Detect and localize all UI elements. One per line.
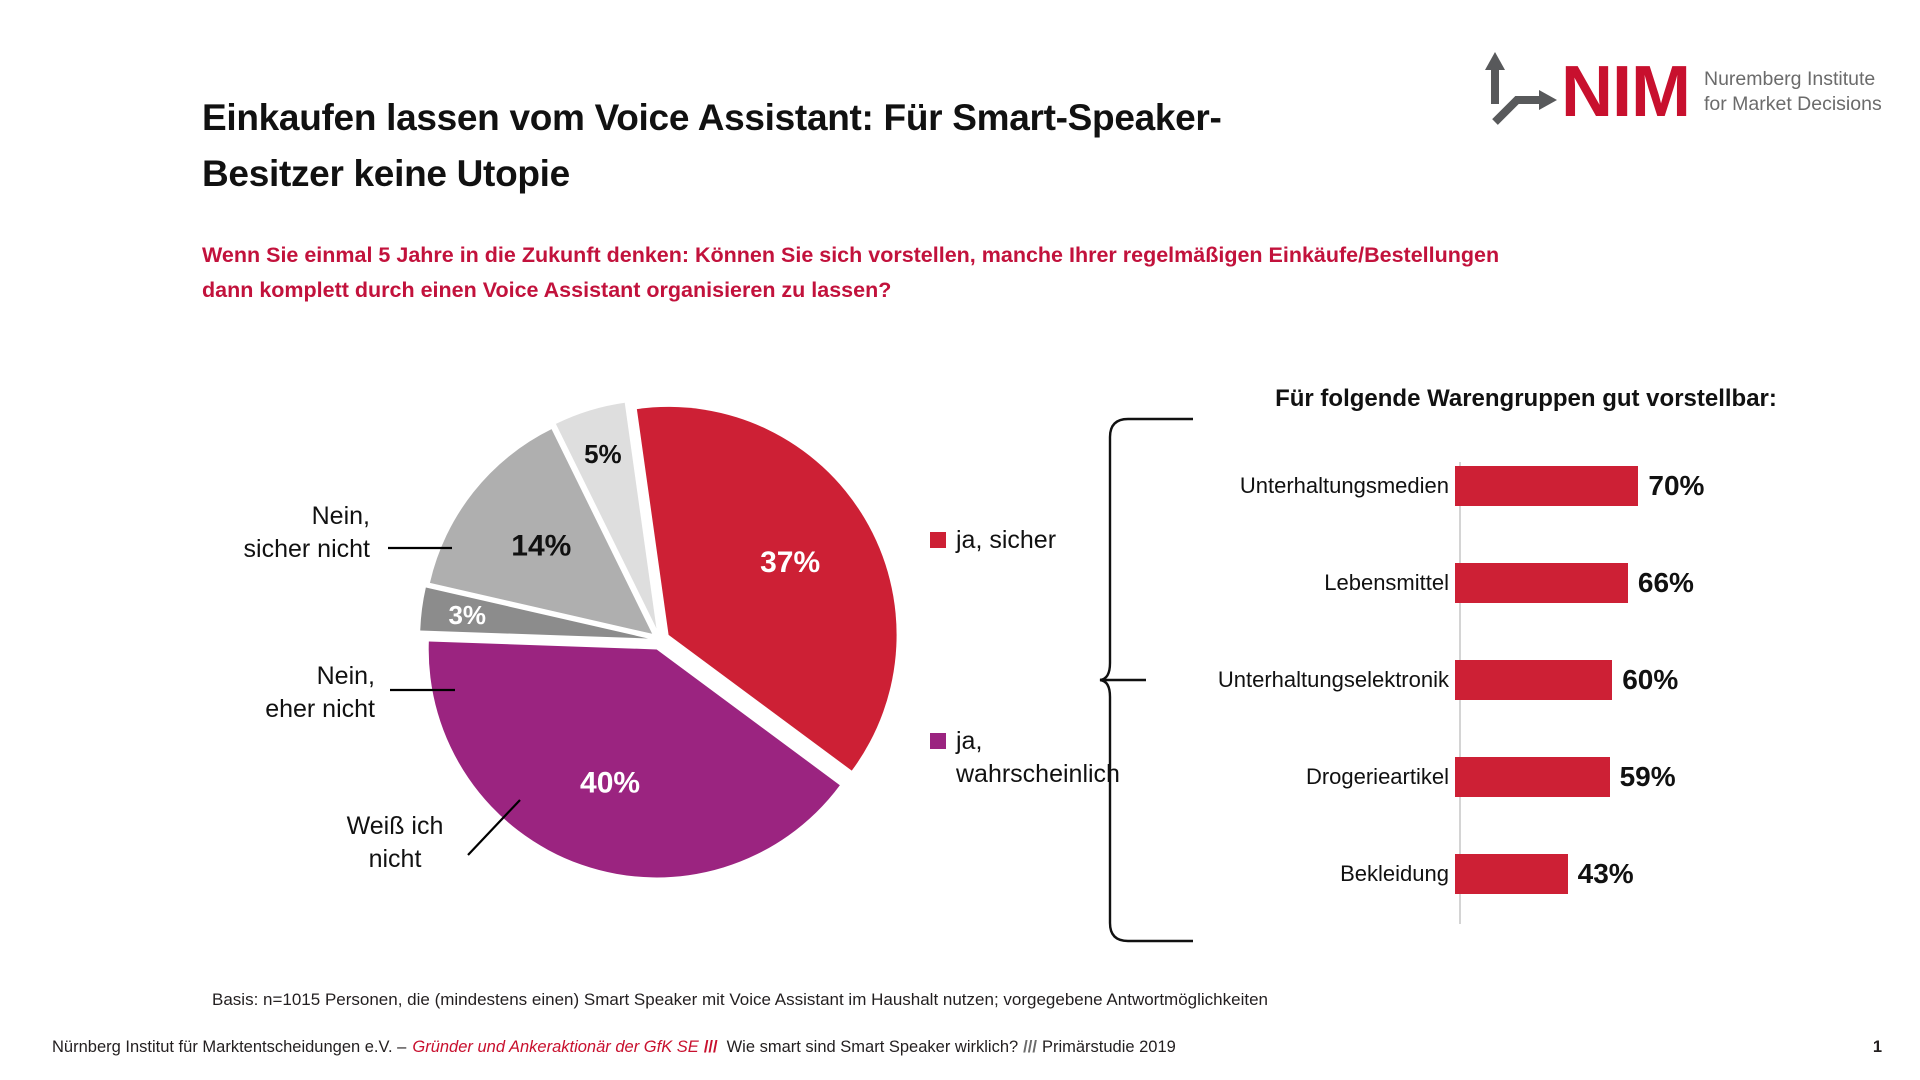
pie-label-line2: eher nicht [130,693,375,726]
bar-value-label: 60% [1622,664,1678,696]
bar-category-label: Bekleidung [1180,861,1455,887]
slide: NIM Nuremberg Institute for Market Decis… [0,0,1920,1080]
logo-tagline: Nuremberg Institute for Market Decisions [1704,67,1882,117]
legend-label-ja-sicher: ja, sicher [956,524,1056,557]
pie-label-line1: Nein, [130,660,375,693]
page-title: Einkaufen lassen vom Voice Assistant: Fü… [202,90,1382,202]
bar-category-label: Unterhaltungsmedien [1180,473,1455,499]
page-subtitle: Wenn Sie einmal 5 Jahre in die Zukunft d… [202,238,1692,308]
bar-value-label: 43% [1578,858,1634,890]
legend-item-ja-wahrscheinlich[interactable]: ja, wahrscheinlich [930,725,1120,791]
footer-separator-2: /// [1023,1038,1037,1057]
logo-tagline-line1: Nuremberg Institute [1704,67,1882,92]
pie-label-line1: Weiß ich [320,810,470,843]
bar-fill [1455,757,1610,797]
footer-study: Wie smart sind Smart Speaker wirklich? [727,1038,1019,1057]
legend-item-ja-sicher[interactable]: ja, sicher [930,524,1056,557]
pie-slice-value: 14% [511,530,571,563]
bars-section-title: Für folgende Warengruppen gut vorstellba… [1196,385,1856,413]
logo-wordmark: NIM [1561,56,1690,128]
bar-row: Unterhaltungselektronik60% [1180,656,1880,704]
bar-track: 43% [1455,850,1880,898]
branching-arrow-icon [1465,48,1557,135]
bar-fill [1455,563,1628,603]
footer-separator-1: /// [704,1038,718,1057]
bar-track: 60% [1455,656,1880,704]
footer-page-number: 1 [1873,1038,1882,1057]
nim-logo: NIM Nuremberg Institute for Market Decis… [1465,48,1882,135]
pie-slice-value: 3% [448,600,486,630]
legend-swatch-ja-sicher [930,532,946,548]
bar-fill [1455,660,1612,700]
pie-label-line1: Nein, [130,500,370,533]
bar-row: Drogerieartikel59% [1180,753,1880,801]
pie-slice-value: 40% [580,766,640,799]
page-title-line1: Einkaufen lassen vom Voice Assistant: Fü… [202,90,1382,146]
bar-row: Lebensmittel66% [1180,559,1880,607]
bar-value-label: 70% [1648,470,1704,502]
footer-org: Nürnberg Institut für Marktentscheidunge… [52,1038,406,1057]
bar-fill [1455,466,1638,506]
bar-category-label: Unterhaltungselektronik [1180,667,1455,693]
footer-tagline: Gründer und Ankeraktionär der GfK SE [412,1038,698,1057]
bar-track: 66% [1455,559,1880,607]
footer-edition: Primärstudie 2019 [1042,1038,1176,1057]
bar-value-label: 59% [1620,761,1676,793]
legend-label-line1: ja, [956,725,1120,758]
bar-value-label: 66% [1638,567,1694,599]
legend-label-line2: wahrscheinlich [956,758,1120,791]
pie-chart: 37%40%3%14%5% [420,400,900,880]
basis-note: Basis: n=1015 Personen, die (mindestens … [212,990,1268,1010]
pie-label-line2: nicht [320,843,470,876]
page-subtitle-line1: Wenn Sie einmal 5 Jahre in die Zukunft d… [202,238,1692,273]
footer: Nürnberg Institut für Marktentscheidunge… [52,1038,1882,1057]
bar-category-label: Lebensmittel [1180,570,1455,596]
bar-track: 70% [1455,462,1880,510]
pie-slice-value: 37% [760,546,820,579]
legend-label-ja-wahrscheinlich: ja, wahrscheinlich [956,725,1120,791]
page-subtitle-line2: dann komplett durch einen Voice Assistan… [202,273,1692,308]
pie-label-nein-eher-nicht: Nein, eher nicht [130,660,375,726]
bar-category-label: Drogerieartikel [1180,764,1455,790]
page-title-line2: Besitzer keine Utopie [202,146,1382,202]
pie-label-weiss-ich-nicht: Weiß ich nicht [320,810,470,876]
pie-label-line2: sicher nicht [130,533,370,566]
pie-label-nein-sicher-nicht: Nein, sicher nicht [130,500,370,566]
bar-row: Bekleidung43% [1180,850,1880,898]
bar-fill [1455,854,1568,894]
logo-tagline-line2: for Market Decisions [1704,92,1882,117]
bar-track: 59% [1455,753,1880,801]
pie-slice-value: 5% [584,439,622,469]
legend-swatch-ja-wahrscheinlich [930,733,946,749]
bar-row: Unterhaltungsmedien70% [1180,462,1880,510]
